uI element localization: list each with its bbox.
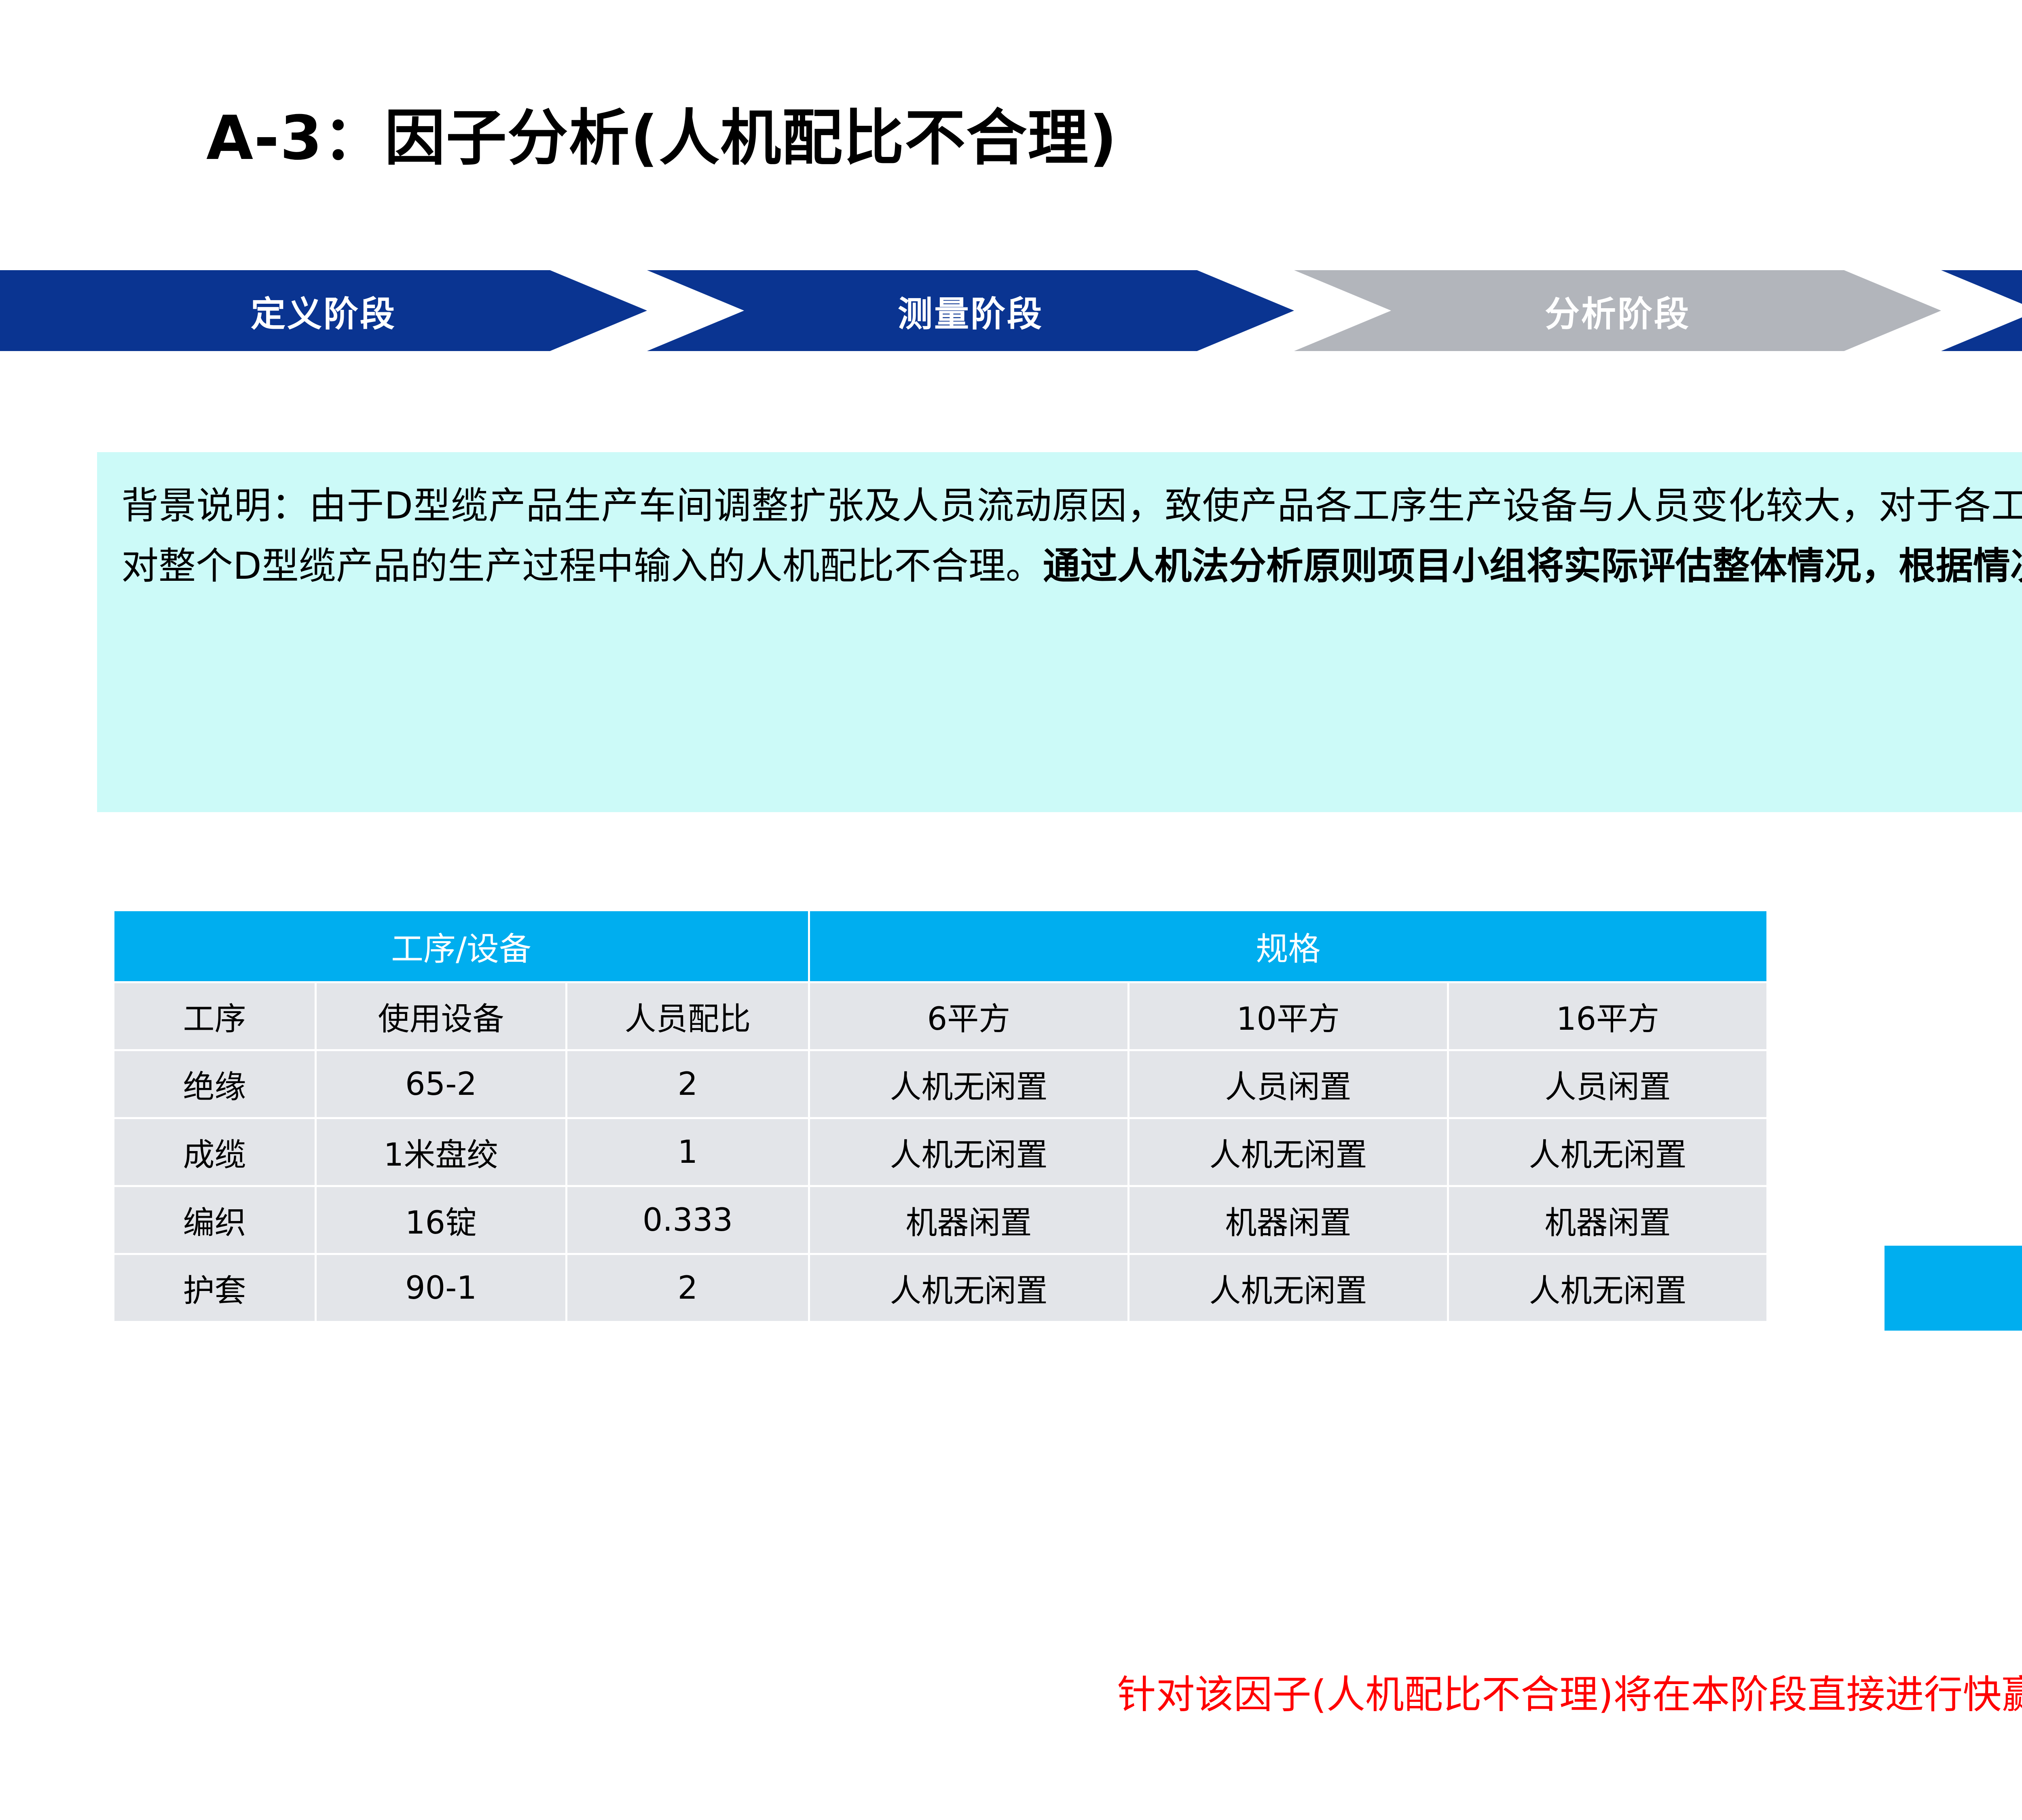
table-row: 绝缘 65-2 2 人机无闲置 人员闲置 人员闲置 bbox=[114, 1050, 1768, 1118]
cell-10sq: 人机无闲置 bbox=[1129, 1254, 1448, 1322]
phase-label: 测量阶段 bbox=[898, 286, 1043, 336]
right-arrow-icon bbox=[1885, 1197, 2022, 1379]
cell-16sq: 机器闲置 bbox=[1448, 1186, 1768, 1254]
cell-staff-ratio: 2 bbox=[567, 1254, 809, 1322]
cell-process: 绝缘 bbox=[114, 1050, 316, 1118]
conclusion-caption: 针对该因子(人机配比不合理)将在本阶段直接进行快赢改善 bbox=[0, 1663, 2022, 1719]
col-header-process: 工序 bbox=[114, 982, 316, 1050]
slide-canvas: A-3：因子分析(人机配比不合理) HTGD 定义阶段 bbox=[0, 0, 2022, 1820]
cell-staff-ratio: 1 bbox=[567, 1118, 809, 1186]
cell-10sq: 人员闲置 bbox=[1129, 1050, 1448, 1118]
phase-label: 定义阶段 bbox=[251, 286, 396, 336]
group-header-process-equipment: 工序/设备 bbox=[114, 910, 809, 982]
cell-process: 成缆 bbox=[114, 1118, 316, 1186]
cell-6sq: 人机无闲置 bbox=[809, 1050, 1129, 1118]
cell-process: 编织 bbox=[114, 1186, 316, 1254]
cell-10sq: 人机无闲置 bbox=[1129, 1118, 1448, 1186]
phase-step-define[interactable]: 定义阶段 bbox=[0, 270, 647, 351]
group-header-spec: 规格 bbox=[809, 910, 1768, 982]
cell-staff-ratio: 0.333 bbox=[567, 1186, 809, 1254]
phase-step-analyze[interactable]: 分析阶段 bbox=[1294, 270, 1941, 351]
background-note-text: 背景说明：由于D型缆产品生产车间调整扩张及人员流动原因，致使产品各工序生产设备与… bbox=[121, 476, 2022, 596]
phase-progress-bar: 定义阶段 测量阶段 分析阶段 改进阶段 bbox=[0, 270, 2022, 351]
cell-16sq: 人机无闲置 bbox=[1448, 1118, 1768, 1186]
table-column-header-row: 工序 使用设备 人员配比 6平方 10平方 16平方 bbox=[114, 982, 1768, 1050]
table-row: 成缆 1米盘绞 1 人机无闲置 人机无闲置 人机无闲置 bbox=[114, 1118, 1768, 1186]
col-header-staff-ratio: 人员配比 bbox=[567, 982, 809, 1050]
cell-16sq: 人员闲置 bbox=[1448, 1050, 1768, 1118]
cell-6sq: 人机无闲置 bbox=[809, 1118, 1129, 1186]
col-header-10sq: 10平方 bbox=[1129, 982, 1448, 1050]
cell-process: 护套 bbox=[114, 1254, 316, 1322]
chevron-shape bbox=[1941, 270, 2022, 351]
phase-step-improve[interactable]: 改进阶段 bbox=[1941, 270, 2022, 351]
cell-6sq: 人机无闲置 bbox=[809, 1254, 1129, 1322]
col-header-16sq: 16平方 bbox=[1448, 982, 1768, 1050]
table-group-header-row: 工序/设备 规格 bbox=[114, 910, 1768, 982]
phase-step-measure[interactable]: 测量阶段 bbox=[647, 270, 1294, 351]
cell-equipment: 1米盘绞 bbox=[316, 1118, 567, 1186]
cell-16sq: 人机无闲置 bbox=[1448, 1254, 1768, 1322]
cell-equipment: 90-1 bbox=[316, 1254, 567, 1322]
col-header-6sq: 6平方 bbox=[809, 982, 1129, 1050]
table-row: 护套 90-1 2 人机无闲置 人机无闲置 人机无闲置 bbox=[114, 1254, 1768, 1322]
process-equipment-table: 工序/设备 规格 工序 使用设备 人员配比 6平方 10平方 16平方 绝缘 6… bbox=[112, 909, 1766, 1323]
background-note-bold: 通过人机法分析原则项目小组将实际评估整体情况，根据情况直接改善调整实施快赢改善。 bbox=[1043, 544, 2022, 588]
table-row: 编织 16锭 0.333 机器闲置 机器闲置 机器闲置 bbox=[114, 1186, 1768, 1254]
page-title: A-3：因子分析(人机配比不合理) bbox=[206, 89, 1118, 177]
background-note-box: 背景说明：由于D型缆产品生产车间调整扩张及人员流动原因，致使产品各工序生产设备与… bbox=[97, 452, 2022, 812]
phase-label: 分析阶段 bbox=[1545, 286, 1690, 336]
col-header-equipment: 使用设备 bbox=[316, 982, 567, 1050]
cell-10sq: 机器闲置 bbox=[1129, 1186, 1448, 1254]
cell-equipment: 16锭 bbox=[316, 1186, 567, 1254]
cell-staff-ratio: 2 bbox=[567, 1050, 809, 1118]
cell-6sq: 机器闲置 bbox=[809, 1186, 1129, 1254]
cell-equipment: 65-2 bbox=[316, 1050, 567, 1118]
